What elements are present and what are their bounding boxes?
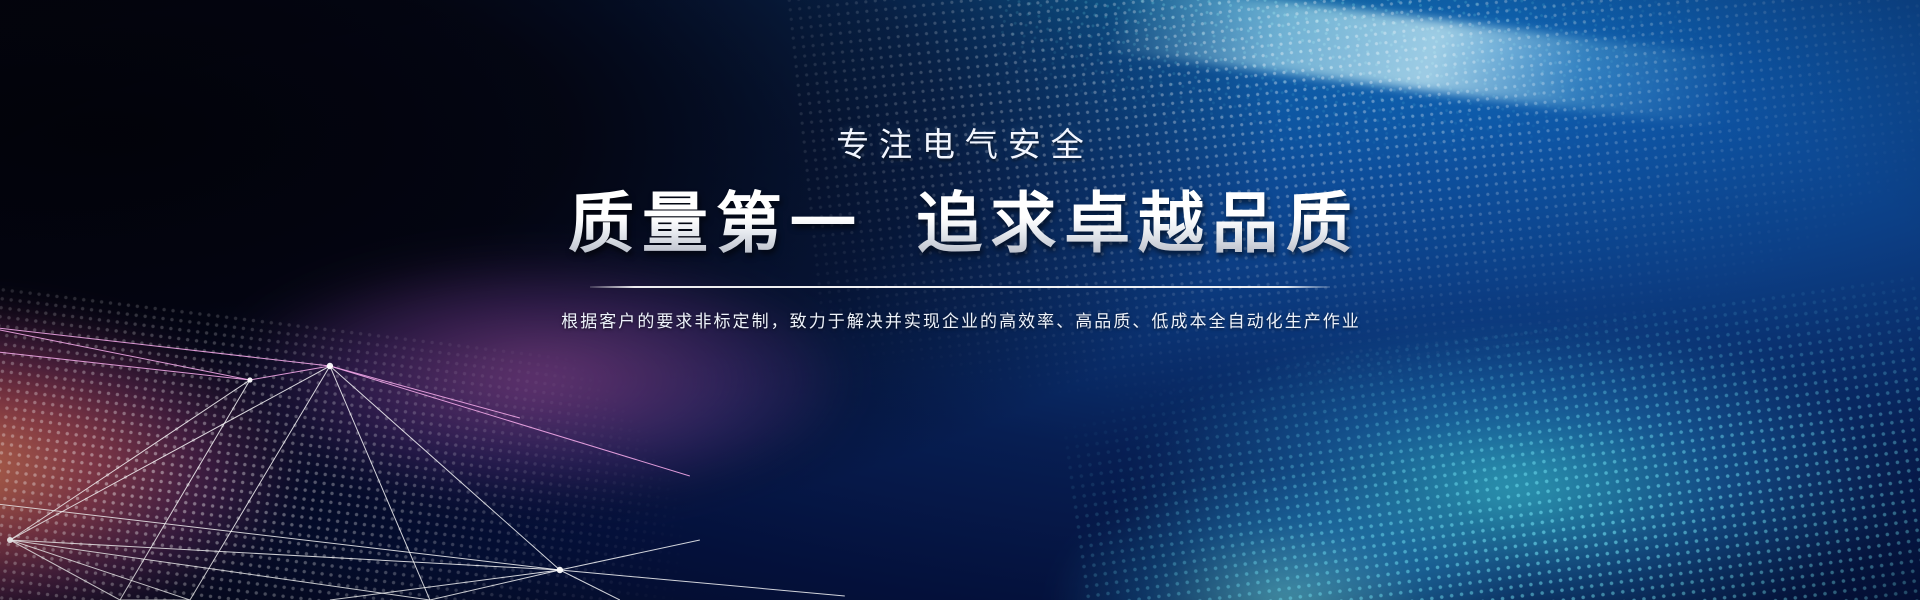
banner-tagline: 专注电气安全 — [826, 128, 1093, 161]
banner-content: 专注电气安全 质量第一 追求卓越品质 根据客户的要求非标定制，致力于解决并实现企… — [0, 0, 1920, 600]
banner-subtitle: 根据客户的要求非标定制，致力于解决并实现企业的高效率、高品质、低成本全自动化生产… — [559, 310, 1361, 334]
hero-banner: 专注电气安全 质量第一 追求卓越品质 根据客户的要求非标定制，致力于解决并实现企… — [0, 0, 1920, 600]
headline-divider — [590, 286, 1330, 288]
banner-headline: 质量第一 追求卓越品质 — [560, 189, 1360, 258]
